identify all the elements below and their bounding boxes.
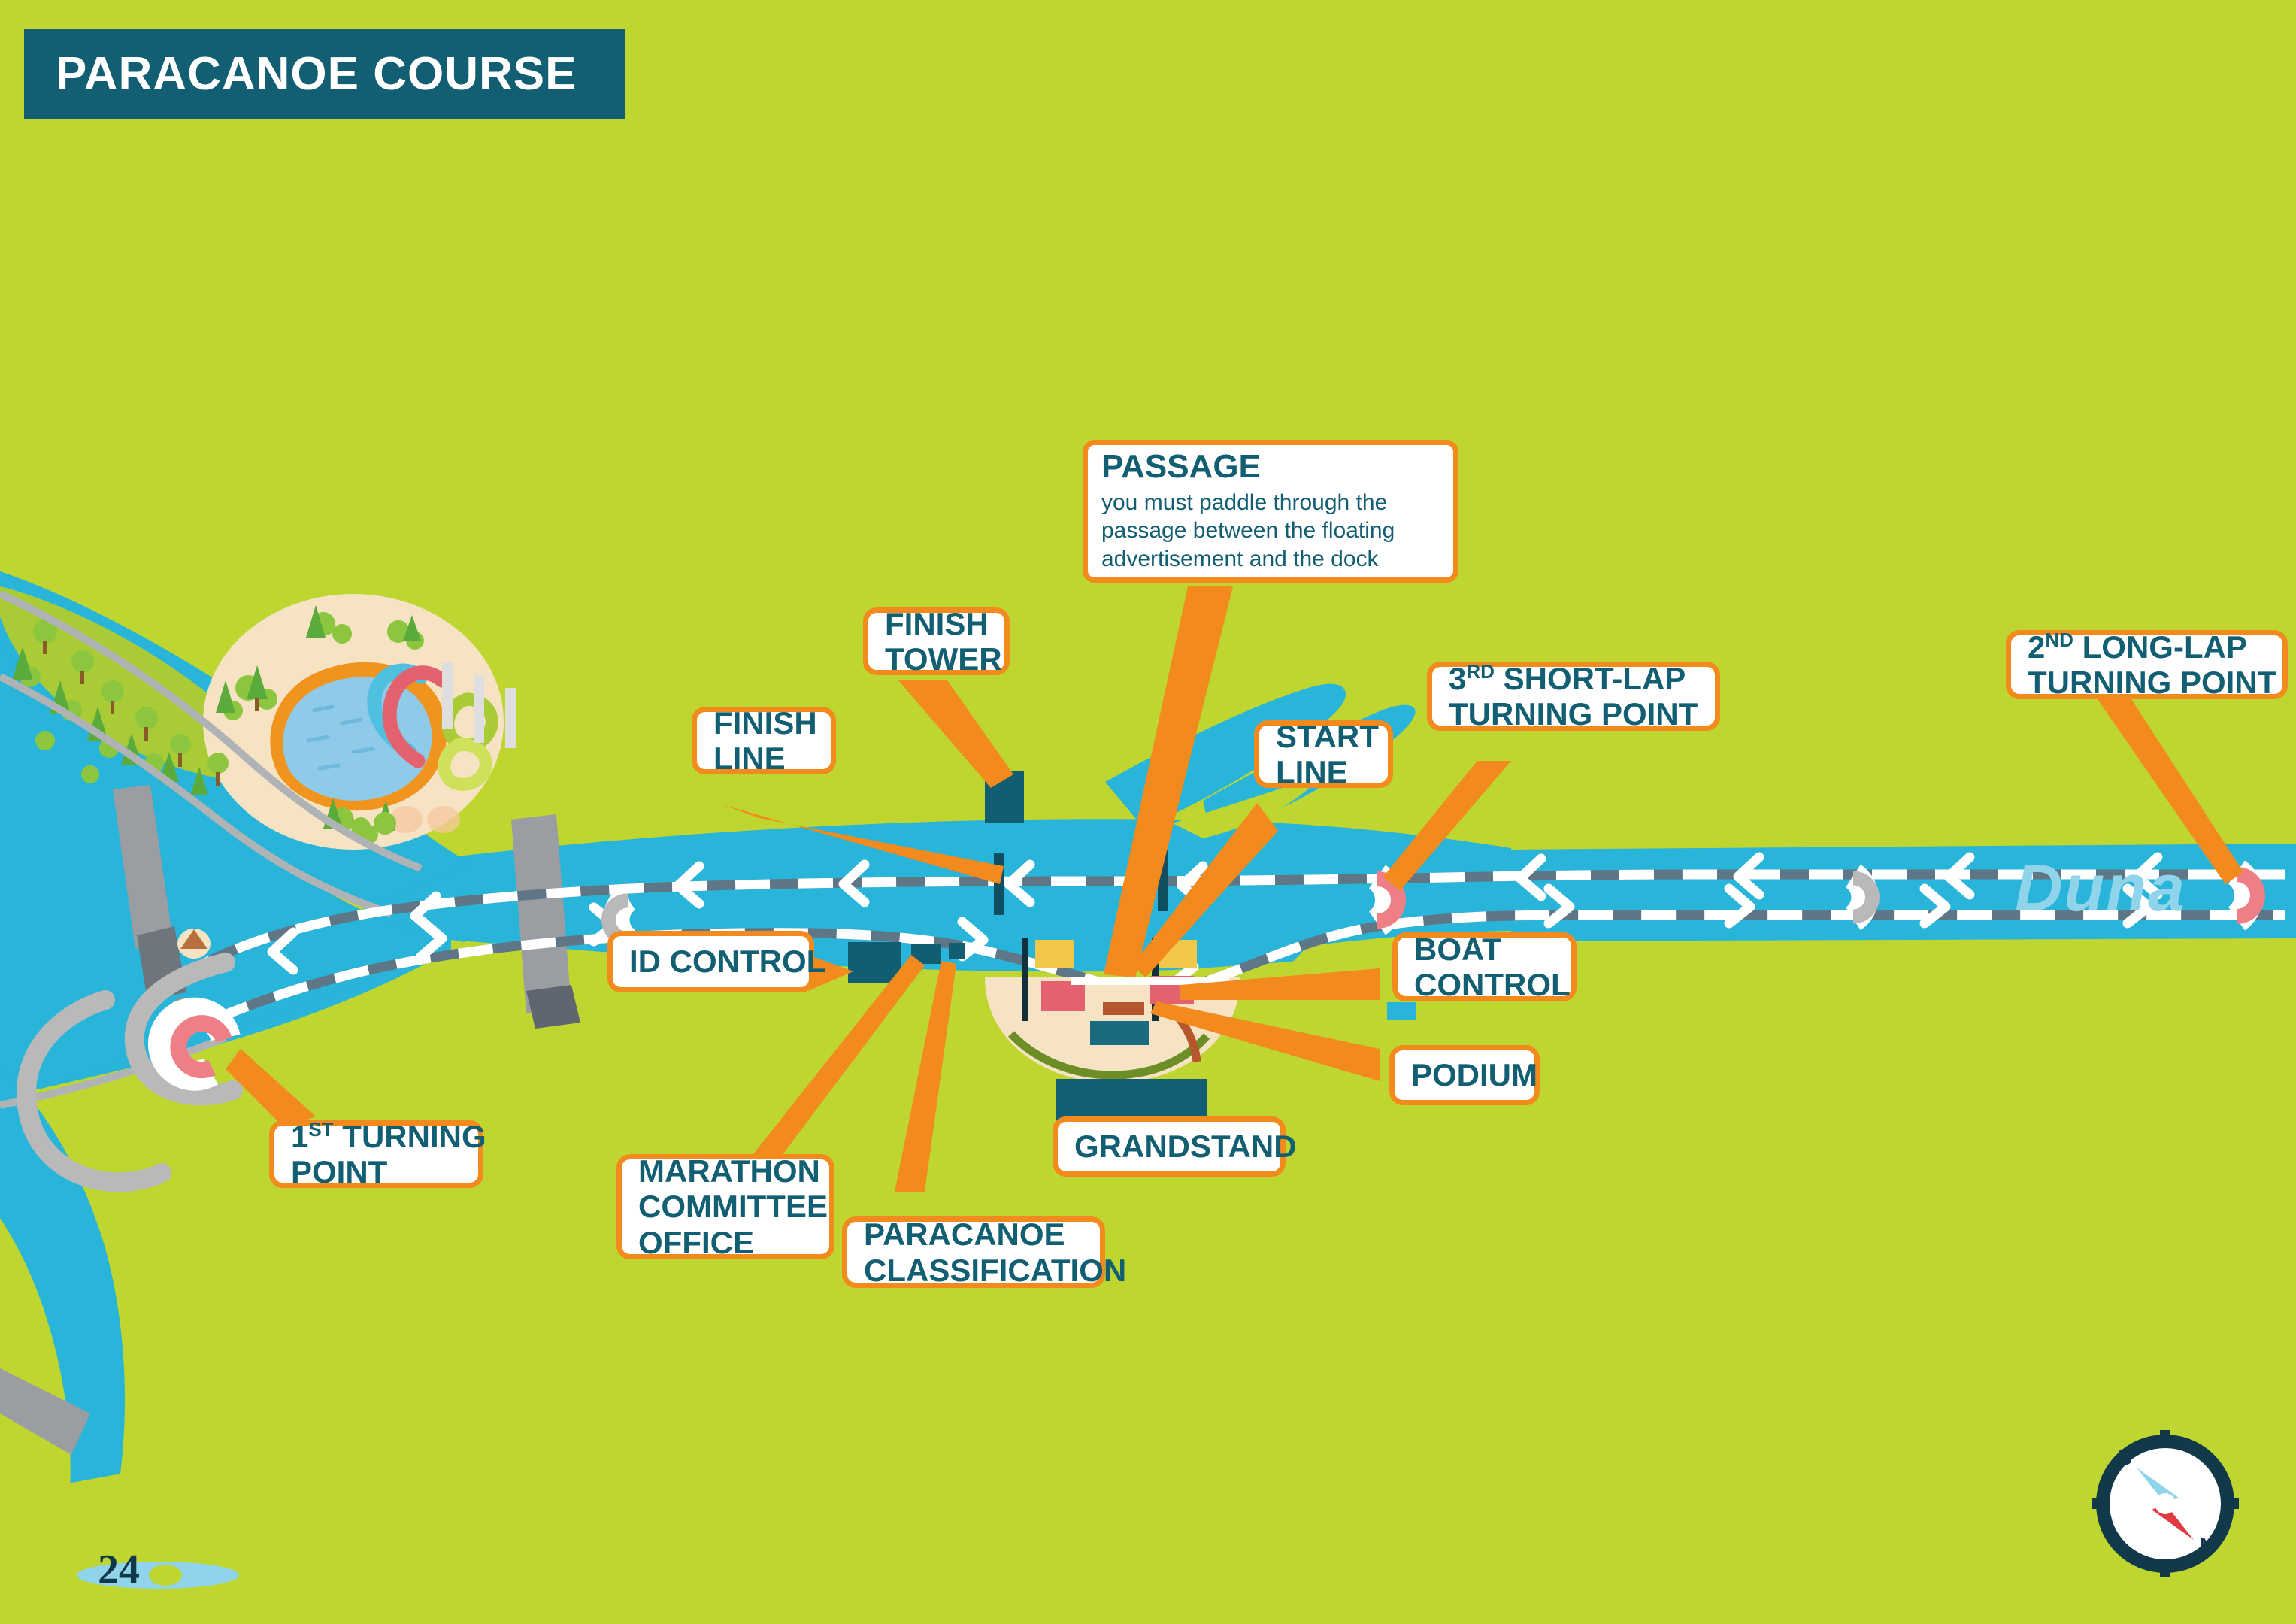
id-control-building — [848, 942, 901, 983]
callout-id-control[interactable]: ID CONTROL — [607, 931, 814, 992]
compass-rose-icon: S N — [2090, 1429, 2240, 1579]
flag-red-left — [1041, 981, 1085, 1011]
flagpole-left — [1022, 938, 1028, 1021]
callout-finish-line-line1: FINISH — [713, 705, 814, 741]
callout-marathon-line2: COMMITTEE — [638, 1189, 813, 1224]
turning-buoy-gray-right — [1853, 876, 1873, 919]
callout-finish-tower-line1: FINISH — [885, 606, 988, 641]
callout-marathon-line3: OFFICE — [638, 1225, 813, 1260]
callout-passage-body: you must paddle through the passage betw… — [1101, 489, 1425, 574]
callout-grandstand[interactable]: GRANDSTAND — [1053, 1116, 1286, 1177]
callout-2nd-line1: 2ND LONG-LAP — [2028, 629, 2266, 665]
callout-1st-line1: 1ST TURNING — [291, 1119, 462, 1154]
callout-id-control-line: ID CONTROL — [629, 944, 792, 979]
callout-passage[interactable]: PASSAGE you must paddle through the pass… — [1083, 440, 1458, 583]
compass-north-label: N — [2199, 1534, 2216, 1559]
small-building-b — [949, 943, 965, 959]
callout-3rd-short-lap-turning-point[interactable]: 3RD SHORT-LAP TURNING POINT — [1427, 662, 1720, 731]
page-footer: 24 — [75, 1549, 241, 1605]
bridge-main-shadow — [526, 985, 580, 1029]
map-canvas: PARACANOE COURSE Duna PASSAGE you must p… — [0, 0, 2296, 1624]
flag-yellow-left — [1035, 940, 1074, 968]
callout-marathon-line1: MARATHON — [638, 1153, 813, 1189]
river-name-label: Duna — [2015, 850, 2186, 926]
callout-2nd-long-lap-turning-point[interactable]: 2ND LONG-LAP TURNING POINT — [2006, 630, 2288, 699]
callout-finish-line[interactable]: FINISH LINE — [692, 707, 836, 774]
callout-finish-line-line2: LINE — [713, 741, 814, 776]
callout-paracanoe-line2: CLASSIFICATION — [864, 1253, 1083, 1288]
finish-line-post-left — [994, 853, 1004, 915]
callout-start-line[interactable]: START LINE — [1254, 720, 1393, 788]
callout-start-line-line1: START — [1276, 719, 1371, 754]
callout-start-line-line2: LINE — [1276, 754, 1371, 789]
callout-3rd-line1: 3RD SHORT-LAP — [1449, 661, 1698, 696]
callout-2nd-line2: TURNING POINT — [2028, 665, 2266, 700]
page-number: 24 — [98, 1546, 140, 1594]
callout-podium[interactable]: PODIUM — [1389, 1045, 1540, 1105]
callout-paracanoe-classification[interactable]: PARACANOE CLASSIFICATION — [842, 1216, 1105, 1288]
course-map-illustration — [0, 0, 2296, 1624]
callout-boat-control[interactable]: BOAT CONTROL — [1392, 932, 1577, 1001]
page-title: PARACANOE COURSE — [56, 47, 577, 101]
boat-control-dock — [1387, 1002, 1416, 1020]
page-title-banner: PARACANOE COURSE — [24, 29, 625, 119]
callout-boat-control-line1: BOAT — [1414, 932, 1555, 967]
callout-1st-line2: POINT — [291, 1154, 462, 1189]
callout-finish-tower[interactable]: FINISH TOWER — [863, 607, 1010, 675]
callout-marathon-committee-office[interactable]: MARATHON COMMITTEE OFFICE — [616, 1154, 834, 1259]
podium-stage — [1090, 1021, 1149, 1045]
callout-3rd-line2: TURNING POINT — [1449, 696, 1698, 732]
callout-finish-tower-line2: TOWER — [885, 641, 988, 677]
callout-boat-control-line2: CONTROL — [1414, 967, 1555, 1002]
compass-pivot — [2155, 1493, 2176, 1514]
compass-south-label: S — [2117, 1445, 2132, 1470]
callout-1st-turning-point[interactable]: 1ST TURNING POINT — [269, 1120, 483, 1188]
callout-podium-line: PODIUM — [1411, 1057, 1518, 1092]
callout-paracanoe-line1: PARACANOE — [864, 1216, 1083, 1252]
callout-grandstand-line: GRANDSTAND — [1074, 1129, 1264, 1164]
callout-passage-title: PASSAGE — [1101, 449, 1261, 485]
podium-block — [1103, 1002, 1144, 1015]
turning-buoy-2nd-long-lap — [2237, 872, 2258, 919]
